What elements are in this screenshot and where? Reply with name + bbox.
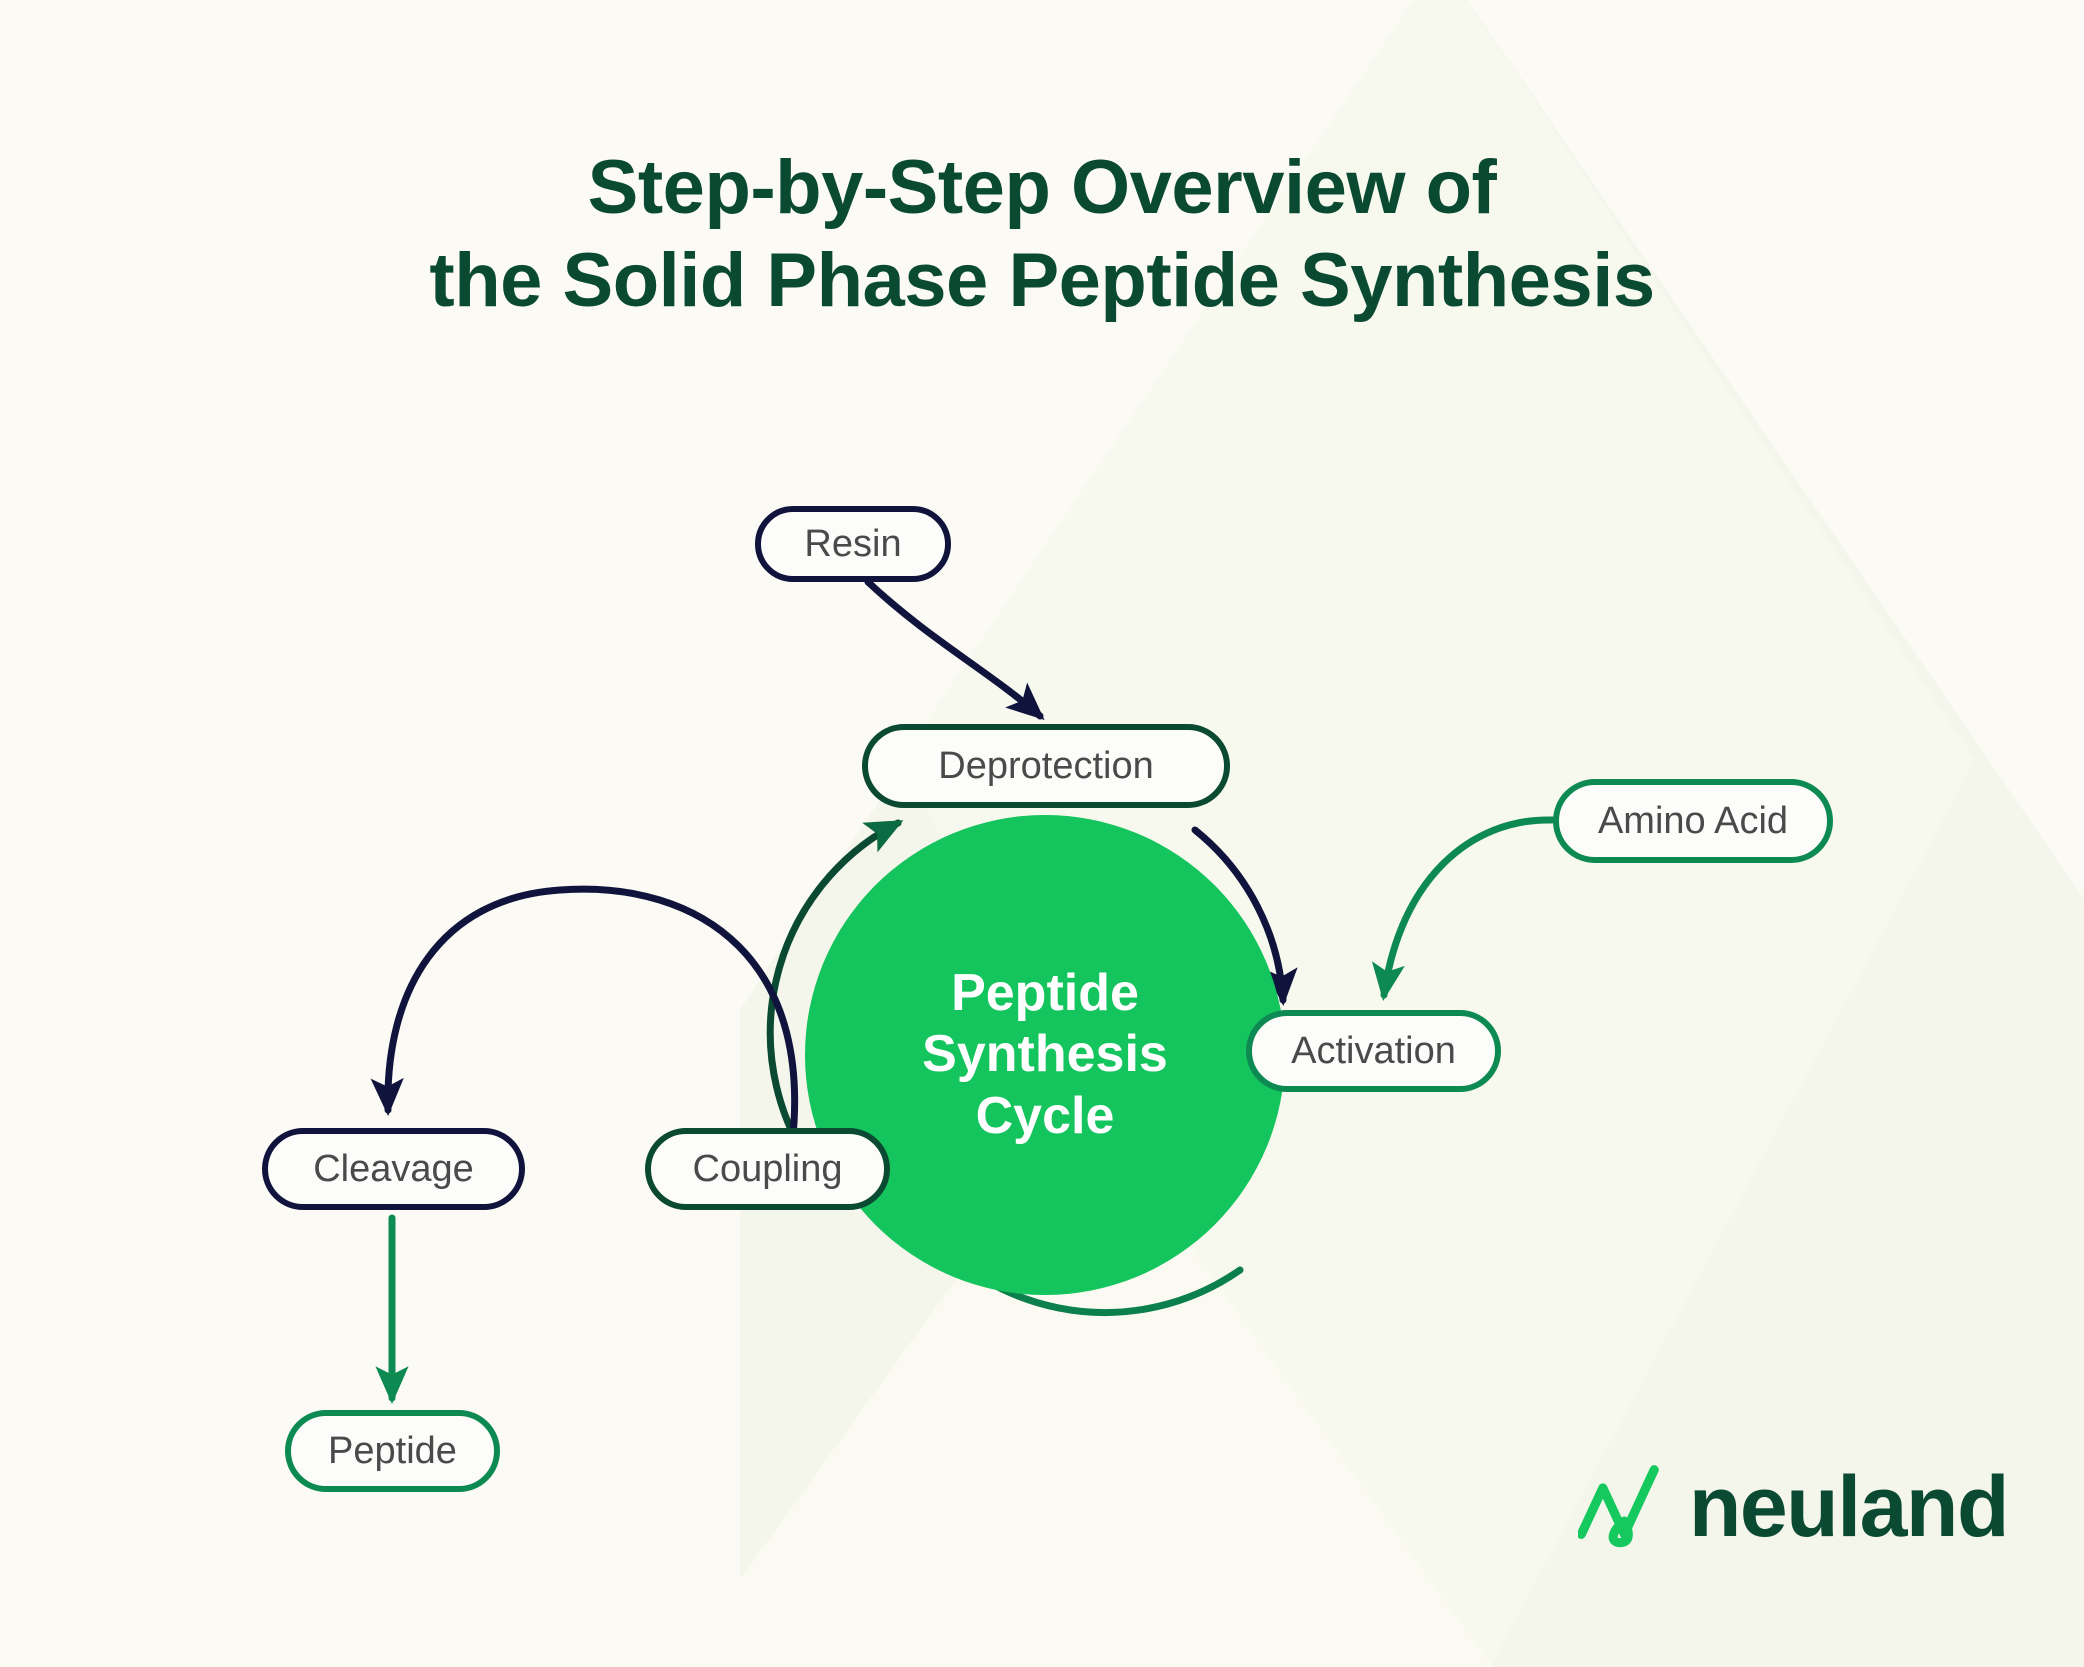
node-deprotection[interactable]: Deprotection	[862, 724, 1230, 808]
edge-coupling-to-cleavage	[388, 889, 795, 1160]
node-cleavage[interactable]: Cleavage	[262, 1128, 525, 1210]
neuland-wordmark: neuland	[1689, 1464, 2008, 1550]
node-coupling-label: Coupling	[693, 1148, 843, 1191]
node-deprotection-label: Deprotection	[938, 745, 1153, 788]
node-resin-label: Resin	[804, 523, 901, 566]
node-activation-label: Activation	[1291, 1030, 1456, 1073]
node-peptide[interactable]: Peptide	[285, 1410, 500, 1492]
node-peptide-label: Peptide	[328, 1430, 457, 1473]
cycle-label: Peptide Synthesis Cycle	[922, 963, 1168, 1147]
node-coupling[interactable]: Coupling	[645, 1128, 890, 1210]
node-resin[interactable]: Resin	[755, 506, 951, 582]
peptide-synthesis-cycle-circle[interactable]: Peptide Synthesis Cycle	[805, 815, 1285, 1295]
edge-resin-to-deprotection	[868, 582, 1040, 716]
node-cleavage-label: Cleavage	[313, 1148, 474, 1191]
infographic-canvas: Step-by-Step Overview of the Solid Phase…	[0, 0, 2084, 1667]
node-amino-acid-label: Amino Acid	[1598, 800, 1788, 843]
edge-amino-acid-to-activation	[1384, 820, 1552, 995]
neuland-mark-icon	[1578, 1448, 1671, 1566]
node-activation[interactable]: Activation	[1246, 1010, 1501, 1092]
node-amino-acid[interactable]: Amino Acid	[1553, 779, 1833, 863]
neuland-logo[interactable]: neuland	[1578, 1442, 2008, 1572]
